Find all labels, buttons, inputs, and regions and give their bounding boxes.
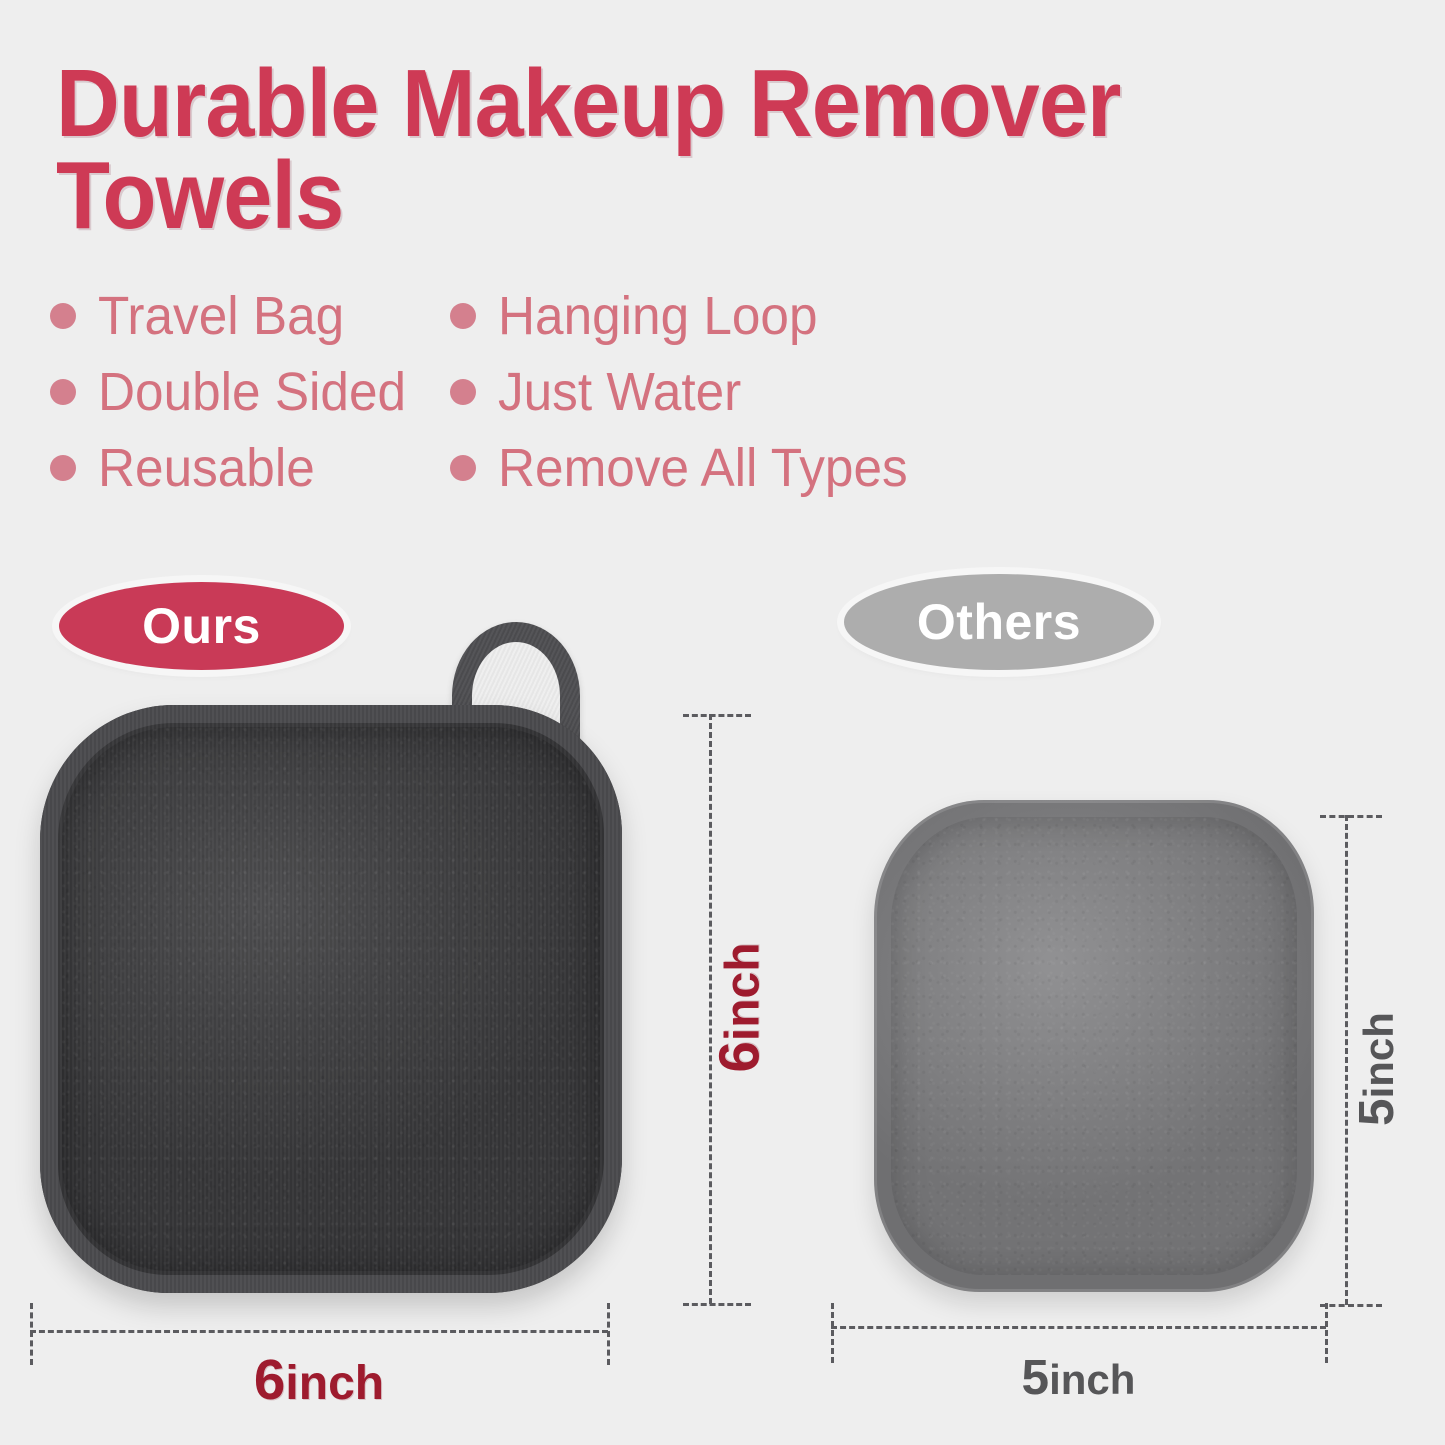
dim-label-ours-height-unit: inch: [717, 942, 770, 1041]
badge-others-label: Others: [917, 593, 1081, 651]
dim-tick-others-height-bottom: [1320, 1304, 1382, 1307]
badge-others: Others: [844, 574, 1154, 670]
dim-tick-ours-height-bottom: [683, 1303, 751, 1306]
dim-label-ours-width: 6inch: [30, 1348, 608, 1413]
dim-label-others-height: 5inch: [1347, 999, 1405, 1139]
page-title: Durable Makeup Remover Towels: [56, 58, 1243, 242]
dim-line-ours-width: [30, 1330, 608, 1333]
page-title-line-2: Towels: [56, 150, 1243, 242]
dim-label-others-width-number: 5: [1022, 1349, 1050, 1405]
product-ours-towel: [40, 705, 622, 1293]
badge-ours: Ours: [59, 582, 344, 670]
product-infographic: Durable Makeup Remover Towels Travel Bag…: [0, 0, 1445, 1445]
feature-label: Remove All Types: [498, 437, 908, 499]
bullet-dot-icon: [450, 379, 476, 405]
feature-item-just-water: Just Water: [450, 361, 910, 423]
page-title-line-1: Durable Makeup Remover: [56, 58, 1243, 150]
towel-binding-edge: [40, 705, 622, 1293]
feature-label: Reusable: [98, 437, 315, 499]
towel-body: [874, 800, 1314, 1292]
feature-label: Double Sided: [98, 361, 406, 423]
feature-item-hanging-loop: Hanging Loop: [450, 285, 910, 347]
dim-label-ours-height: 6inch: [708, 938, 773, 1078]
dim-tick-others-height-top: [1320, 815, 1382, 818]
towel-binding-edge: [874, 800, 1314, 1292]
dim-line-others-width: [831, 1326, 1326, 1329]
feature-label: Just Water: [498, 361, 741, 423]
dim-label-ours-height-number: 6: [709, 1041, 772, 1073]
bullet-dot-icon: [450, 303, 476, 329]
dim-label-others-height-number: 5: [1348, 1098, 1404, 1126]
bullet-dot-icon: [50, 303, 76, 329]
product-others-towel: [874, 800, 1314, 1292]
feature-label: Travel Bag: [98, 285, 344, 347]
dim-label-ours-width-unit: inch: [285, 1357, 384, 1410]
bullet-dot-icon: [450, 455, 476, 481]
dim-tick-ours-height-top: [683, 714, 751, 717]
dim-label-others-height-unit: inch: [1355, 1012, 1402, 1098]
feature-item-reusable: Reusable: [50, 437, 450, 499]
feature-list: Travel Bag Hanging Loop Double Sided Jus…: [50, 278, 950, 506]
dim-label-ours-width-number: 6: [254, 1349, 286, 1412]
feature-item-double-sided: Double Sided: [50, 361, 450, 423]
bullet-dot-icon: [50, 455, 76, 481]
badge-ours-label: Ours: [142, 597, 261, 655]
feature-label: Hanging Loop: [498, 285, 817, 347]
feature-item-remove-all-types: Remove All Types: [450, 437, 910, 499]
feature-item-travel-bag: Travel Bag: [50, 285, 450, 347]
bullet-dot-icon: [50, 379, 76, 405]
dim-label-others-width-unit: inch: [1049, 1356, 1135, 1403]
dim-label-others-width: 5inch: [831, 1348, 1326, 1406]
